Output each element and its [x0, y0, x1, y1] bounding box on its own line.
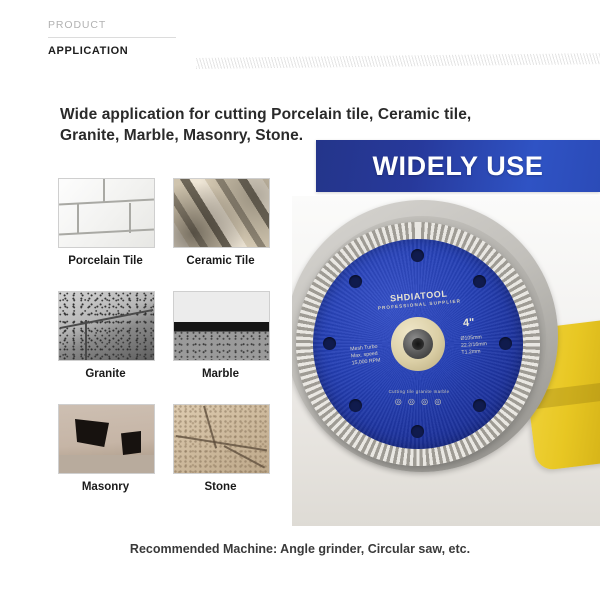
material-item-stone: Stone — [173, 404, 268, 493]
recommended-machine-text: Recommended Machine: Angle grinder, Circ… — [0, 542, 600, 556]
material-label: Ceramic Tile — [173, 255, 268, 267]
blade-cooling-hole — [411, 249, 424, 262]
blade-cooling-hole — [411, 425, 424, 438]
widely-use-label: WIDELY USE — [372, 151, 543, 182]
blade-cooling-hole — [323, 337, 336, 350]
material-label: Granite — [58, 368, 153, 380]
material-item-granite: Granite — [58, 291, 153, 380]
certification-icons: ◎ ◎ ◎ ◎ — [371, 397, 467, 406]
material-item-masonry: Masonry — [58, 404, 153, 493]
nav-product-label: PRODUCT — [48, 18, 178, 32]
material-label: Porcelain Tile — [58, 255, 153, 267]
nav-application-label: APPLICATION — [48, 44, 178, 58]
blade-cert-text: Cutting tile granite marble — [371, 389, 467, 394]
blade-cooling-hole — [349, 399, 362, 412]
blade-cooling-hole — [349, 275, 362, 288]
blade-speed-text: Mesh Turbo Max. speed 15,000 RPM — [350, 344, 381, 368]
granite-texture — [59, 292, 154, 360]
material-item-porcelain-tile: Porcelain Tile — [58, 178, 153, 267]
widely-use-banner: WIDELY USE — [316, 140, 600, 192]
blade-size-label: 4" — [463, 317, 475, 330]
product-application-banner: PRODUCT APPLICATION Wide application for… — [0, 0, 600, 600]
header: PRODUCT APPLICATION — [0, 18, 600, 78]
marble-thumbnail — [173, 291, 270, 361]
blade-hub-center — [412, 338, 424, 350]
porcelain-tile-texture — [59, 179, 154, 247]
hatch-decoration — [196, 53, 600, 69]
granite-thumbnail — [58, 291, 155, 361]
ceramic-tile-texture — [174, 179, 269, 247]
masonry-thumbnail — [58, 404, 155, 474]
material-item-marble: Marble — [173, 291, 268, 380]
product-photo: SHDIATOOL PROFESSIONAL SUPPLIER 4" Ø105m… — [292, 196, 600, 526]
stone-thumbnail — [173, 404, 270, 474]
ceramic-tile-thumbnail — [173, 178, 270, 248]
material-label: Stone — [173, 481, 268, 493]
blade-cooling-hole — [473, 275, 486, 288]
material-item-ceramic-tile: Ceramic Tile — [173, 178, 268, 267]
blade-cooling-hole — [473, 399, 486, 412]
masonry-texture — [59, 405, 154, 473]
material-label: Marble — [173, 368, 268, 380]
blade-spec-text: Ø105mm 22.2/16mm T1.2mm — [460, 334, 487, 357]
marble-texture — [174, 292, 269, 360]
porcelain-tile-thumbnail — [58, 178, 155, 248]
material-label: Masonry — [58, 481, 153, 493]
blade-disc: SHDIATOOL PROFESSIONAL SUPPLIER 4" Ø105m… — [313, 239, 523, 449]
diamond-saw-blade: SHDIATOOL PROFESSIONAL SUPPLIER 4" Ø105m… — [296, 222, 540, 466]
breadcrumb: PRODUCT APPLICATION — [48, 18, 178, 58]
stone-texture — [174, 405, 269, 473]
blade-cooling-hole — [499, 337, 512, 350]
nav-divider — [48, 37, 176, 38]
